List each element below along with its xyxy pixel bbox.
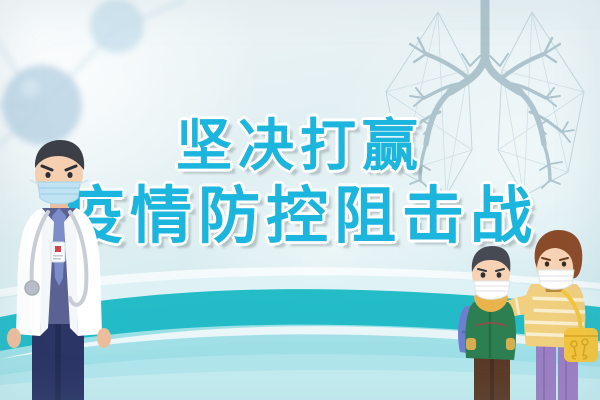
boy-pants-right: [493, 354, 510, 400]
doctor-hand-right: [97, 328, 111, 348]
molecule-atom-large: [2, 65, 82, 145]
poster-canvas: 坚决打赢 疫情防控阻击战: [0, 0, 600, 400]
boy-pants-left: [474, 354, 491, 400]
doctor-hand-left: [7, 328, 21, 348]
mother-bag: [564, 328, 598, 362]
mother-mask: [538, 270, 574, 289]
doctor-mask: [38, 182, 80, 204]
molecule-atom-medium: [90, 0, 144, 53]
figure-boy: [458, 246, 516, 400]
mother-pants-left: [536, 340, 556, 400]
figure-family: [452, 228, 600, 400]
figure-doctor: [0, 138, 120, 400]
lungs-illustration: [370, 0, 600, 204]
boy-mask: [474, 281, 510, 299]
